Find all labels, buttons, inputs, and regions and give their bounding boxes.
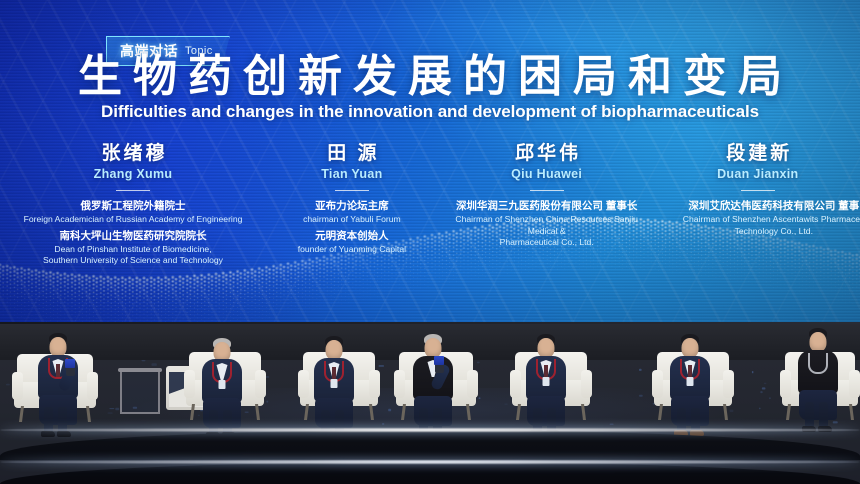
chair-leg-right — [255, 404, 260, 420]
microphone-flag — [434, 356, 444, 365]
side-table-1 — [118, 368, 162, 414]
chair-arm-left — [780, 370, 791, 398]
person-torso — [798, 350, 838, 394]
speaker-name-en: Qiu Huawei — [442, 167, 652, 181]
person-panelist-1 — [200, 338, 244, 426]
speaker-role-cn: 深圳华润三九医药股份有限公司 董事长 — [442, 199, 652, 214]
person-head — [810, 332, 827, 352]
speaker-name-en: Duan Jianxin — [660, 167, 856, 181]
speaker-divider — [530, 190, 564, 191]
speaker-role-en: Foreign Academician of Russian Academy o… — [4, 214, 262, 226]
person-badge — [543, 377, 550, 386]
speaker-role-en: Dean of Pinshan Institute of Biomedicine… — [4, 244, 262, 267]
chair-leg-right — [723, 404, 728, 420]
speaker-name-cn: 邱华伟 — [442, 142, 652, 166]
speaker-role-cn: 俄罗斯工程院外籍院士 — [4, 199, 262, 214]
speaker-card-3: 邱华伟 Qiu Huawei 深圳华润三九医药股份有限公司 董事长 Chairm… — [438, 142, 656, 252]
person-panelist-6 — [796, 328, 840, 424]
person-lanyard — [808, 353, 828, 374]
person-badge — [331, 379, 338, 388]
person-head — [425, 338, 442, 358]
person-panelist-5 — [668, 334, 712, 426]
person-panelist-4 — [524, 334, 568, 426]
speaker-list: 张绪穆 Zhang Xumu 俄罗斯工程院外籍院士 Foreign Academ… — [0, 142, 860, 262]
person-torso — [526, 356, 566, 400]
chair-leg-left — [786, 404, 791, 420]
stage-led-strip-lower — [0, 460, 860, 464]
speaker-role-en: chairman of Yabuli Forum — [270, 214, 434, 226]
speaker-name-cn: 田 源 — [270, 142, 434, 166]
person-head — [682, 338, 699, 358]
chair-leg-right — [466, 404, 471, 420]
chair-arm-right — [255, 370, 266, 398]
speaker-divider — [335, 190, 369, 191]
stage-led-strip-upper — [0, 428, 860, 432]
speaker-role-cn: 南科大坪山生物医药研究院院长 — [4, 229, 262, 244]
person-torso — [314, 358, 354, 402]
speaker-role-cn: 深圳艾欣达伟医药科技有限公司 董事 — [676, 199, 860, 214]
chair-arm-right — [723, 370, 734, 398]
person-head — [326, 340, 343, 360]
chair-arm-left — [298, 370, 309, 398]
speaker-card-2: 田 源 Tian Yuan 亚布力论坛主席 chairman of Yabuli… — [266, 142, 438, 258]
led-wall-bottom-seam — [0, 322, 860, 324]
chair-leg-right — [849, 404, 854, 420]
person-badge — [687, 377, 694, 386]
session-title-en: Difficulties and changes in the innovati… — [0, 102, 860, 122]
person-head — [538, 338, 555, 358]
chair-leg-left — [516, 404, 521, 420]
person-torso — [202, 359, 242, 403]
speaker-role-en: Chairman of Shenzhen Ascentawits Pharmac… — [676, 214, 860, 237]
speaker-role-en: Chairman of Shenzhen China Resources San… — [442, 214, 652, 249]
chair-leg-left — [19, 406, 24, 422]
chair-arm-right — [87, 372, 98, 400]
person-shoe — [57, 431, 71, 437]
speaker-card-4: 段建新 Duan Jianxin 深圳艾欣达伟医药科技有限公司 董事 Chair… — [656, 142, 860, 240]
chair-arm-right — [849, 370, 860, 398]
session-title-cn: 生物药创新发展的困局和变局 — [0, 54, 860, 100]
person-head — [50, 337, 67, 357]
chair-leg-left — [190, 404, 195, 420]
chair-leg-right — [86, 406, 91, 422]
chair-arm-left — [184, 370, 195, 398]
person-shin — [805, 402, 814, 428]
speaker-name-en: Tian Yuan — [270, 167, 434, 181]
speaker-divider — [741, 190, 775, 191]
speaker-role-cn: 亚布力论坛主席 — [270, 199, 434, 214]
conference-stage-screenshot: 高端对话 Topic 生物药创新发展的困局和变局 Difficulties an… — [0, 0, 860, 484]
chair-arm-right — [581, 370, 592, 398]
chair-leg-right — [369, 404, 374, 420]
side-table-frame — [120, 372, 160, 414]
person-badge — [219, 380, 226, 389]
chair-arm-left — [510, 370, 521, 398]
person-panelist-2 — [312, 336, 356, 426]
chair-leg-right — [581, 404, 586, 420]
speaker-name-cn: 段建新 — [660, 142, 856, 166]
chair-arm-right — [467, 370, 478, 398]
chair-leg-left — [658, 404, 663, 420]
person-panelist-3 — [410, 334, 456, 426]
person-shoe — [41, 431, 55, 437]
speaker-name-en: Zhang Xumu — [4, 167, 262, 181]
speaker-divider — [116, 190, 150, 191]
chair-arm-left — [12, 372, 23, 400]
speaker-role-cn: 元明资本创始人 — [270, 229, 434, 244]
speaker-role-en: founder of Yuanming Capital — [270, 244, 434, 256]
speaker-card-1: 张绪穆 Zhang Xumu 俄罗斯工程院外籍院士 Foreign Academ… — [0, 142, 266, 270]
speaker-name-cn: 张绪穆 — [4, 142, 262, 166]
person-shin — [819, 402, 828, 428]
chair-arm-left — [394, 370, 405, 398]
chair-arm-left — [652, 370, 663, 398]
person-moderator — [36, 333, 80, 425]
microphone-flag — [65, 359, 75, 368]
chair-leg-left — [401, 404, 406, 420]
person-torso — [670, 356, 710, 400]
chair-leg-left — [304, 404, 309, 420]
chair-arm-right — [369, 370, 380, 398]
